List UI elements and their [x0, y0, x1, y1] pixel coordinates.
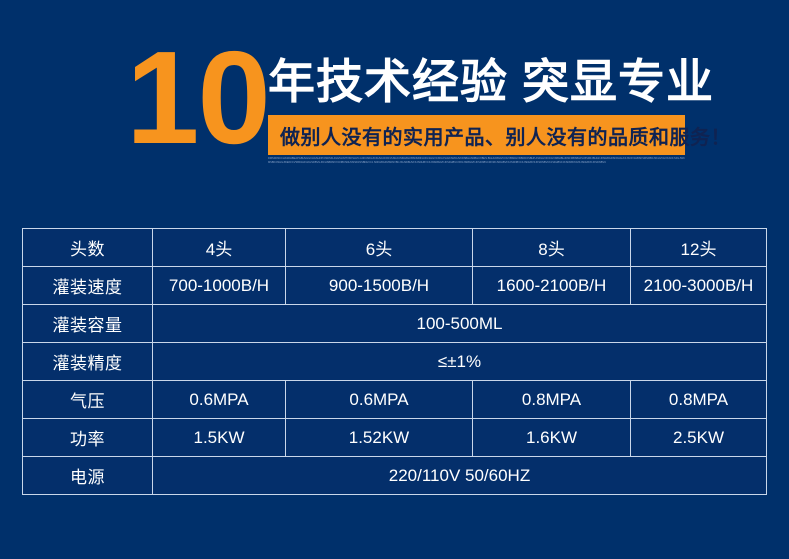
table-cell: 2100-3000B/H — [631, 267, 767, 305]
fine-print-text: DMSDDSKCHASDHBEAPGBHVHGCHGSHOP.DSDSKLDHV… — [268, 157, 685, 183]
row-label: 灌装容量 — [23, 305, 153, 343]
table-column-header: 12头 — [631, 229, 767, 267]
table-cell: 700-1000B/H — [153, 267, 286, 305]
table-column-header: 4头 — [153, 229, 286, 267]
table-row: 灌装精度≤±1% — [23, 343, 767, 381]
row-label: 灌装速度 — [23, 267, 153, 305]
table-cell: 0.6MPA — [153, 381, 286, 419]
table-cell: 0.8MPA — [473, 381, 631, 419]
table-row: 气压0.6MPA0.6MPA0.8MPA0.8MPA — [23, 381, 767, 419]
table-row: 功率1.5KW1.52KW1.6KW2.5KW — [23, 419, 767, 457]
table-cell: 1.52KW — [286, 419, 473, 457]
table-column-header: 8头 — [473, 229, 631, 267]
row-label: 灌装精度 — [23, 343, 153, 381]
years-number: 10 — [126, 32, 269, 164]
table-row: 灌装容量100-500ML — [23, 305, 767, 343]
row-label: 头数 — [23, 229, 153, 267]
table-cell: 2.5KW — [631, 419, 767, 457]
promo-page: 10 年技术经验 突显专业 做别人没有的实用产品、别人没有的品质和服务！ DMS… — [0, 0, 789, 559]
table-cell: 0.8MPA — [631, 381, 767, 419]
hero-banner: 10 年技术经验 突显专业 做别人没有的实用产品、别人没有的品质和服务！ DMS… — [0, 0, 789, 200]
table-row: 头数4头6头8头12头 — [23, 229, 767, 267]
table-cell: 1600-2100B/H — [473, 267, 631, 305]
table-cell: 900-1500B/H — [286, 267, 473, 305]
table-cell: 1.5KW — [153, 419, 286, 457]
table-column-header: 6头 — [286, 229, 473, 267]
slogan-bar: 做别人没有的实用产品、别人没有的品质和服务！ — [268, 115, 685, 155]
table-row: 灌装速度700-1000B/H900-1500B/H1600-2100B/H21… — [23, 267, 767, 305]
row-label: 气压 — [23, 381, 153, 419]
table-cell-merged: 100-500ML — [153, 305, 767, 343]
table-cell-merged: ≤±1% — [153, 343, 767, 381]
table-row: 电源220/110V 50/60HZ — [23, 457, 767, 495]
row-label: 功率 — [23, 419, 153, 457]
specification-table: 头数4头6头8头12头灌装速度700-1000B/H900-1500B/H160… — [22, 228, 767, 495]
page-title: 年技术经验 突显专业 — [268, 52, 714, 112]
slogan-text: 做别人没有的实用产品、别人没有的品质和服务！ — [280, 121, 731, 150]
row-label: 电源 — [23, 457, 153, 495]
table-cell-merged: 220/110V 50/60HZ — [153, 457, 767, 495]
table-cell: 1.6KW — [473, 419, 631, 457]
specification-table-body: 头数4头6头8头12头灌装速度700-1000B/H900-1500B/H160… — [23, 229, 767, 495]
table-cell: 0.6MPA — [286, 381, 473, 419]
